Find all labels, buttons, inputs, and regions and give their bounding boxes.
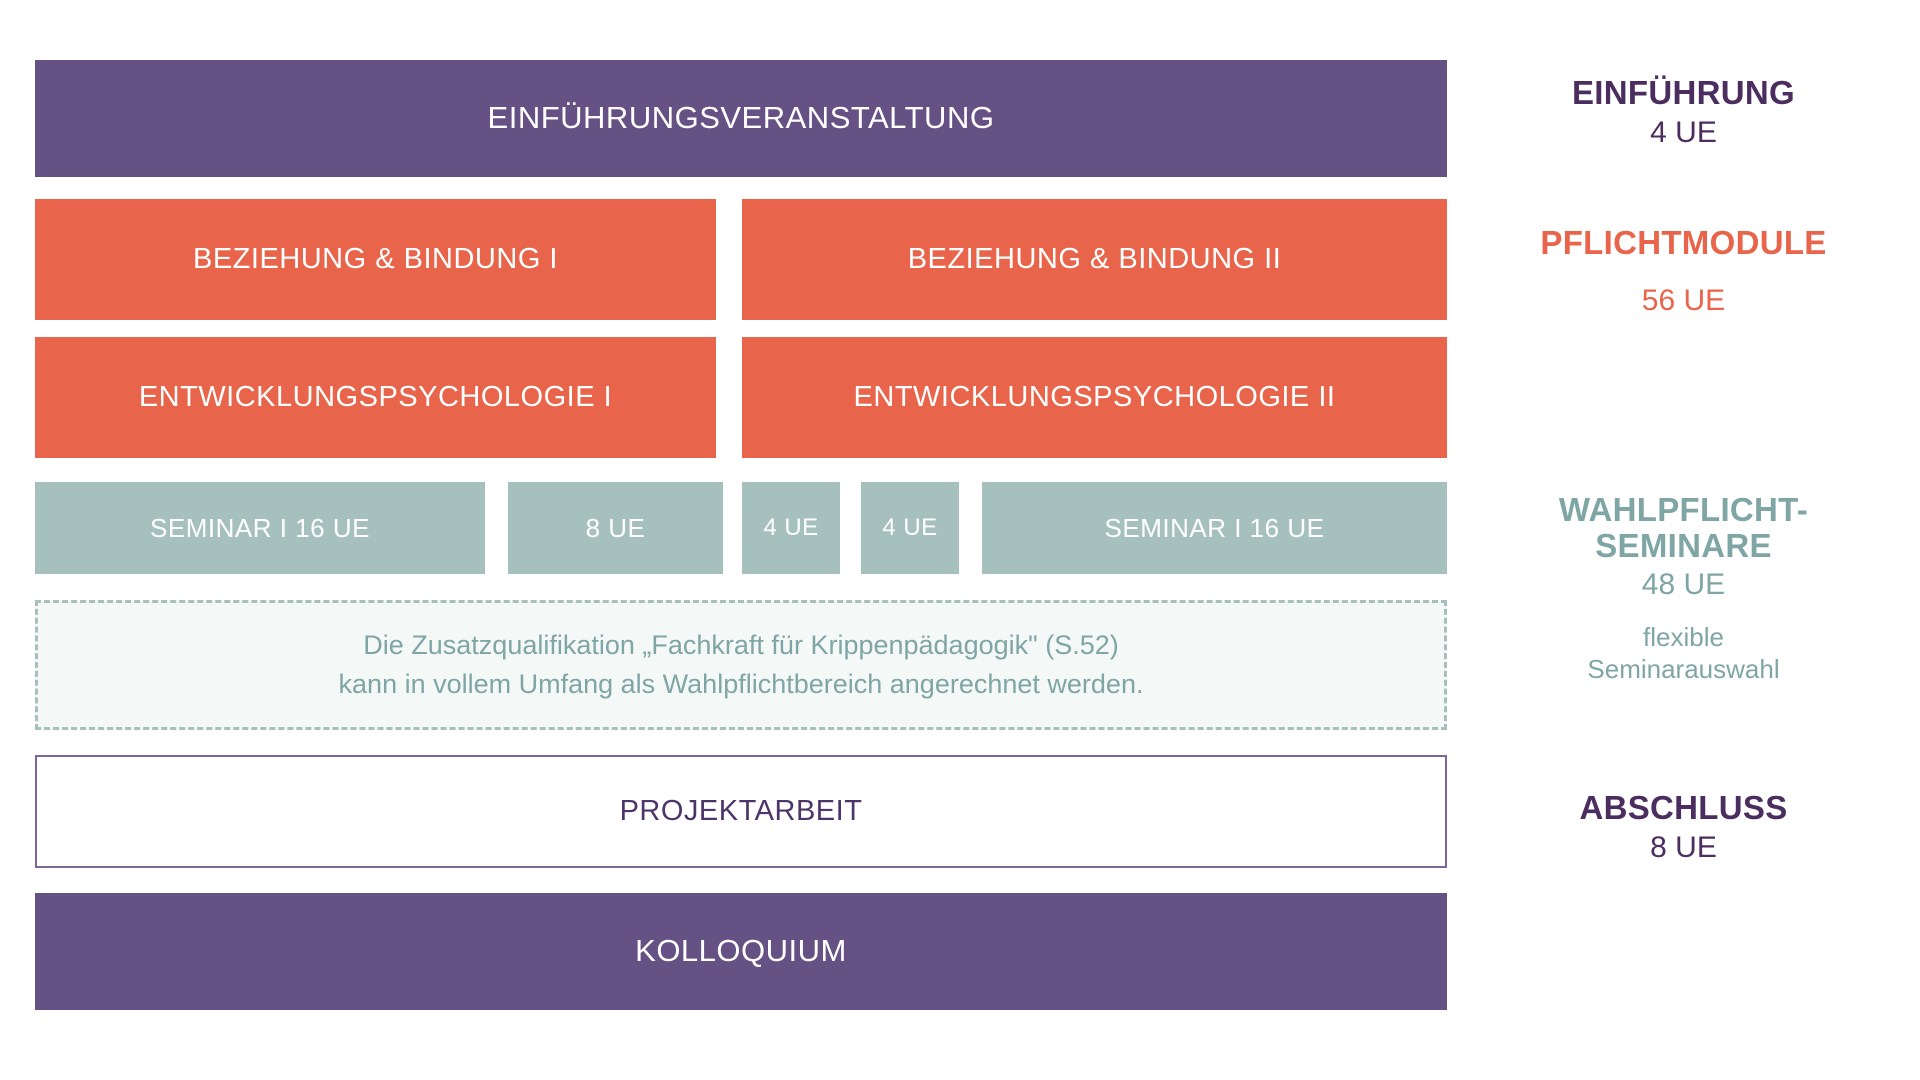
- note-line-1: Die Zusatzqualifikation „Fachkraft für K…: [363, 626, 1118, 665]
- module-entwicklungspsychologie-2[interactable]: ENTWICKLUNGSPSYCHOLOGIE II: [742, 337, 1447, 458]
- seminar-block-1[interactable]: SEMINAR I 16 UE: [35, 482, 485, 574]
- legend-abschluss-subtitle: 8 UE: [1447, 830, 1920, 866]
- module-entwicklungspsychologie-1[interactable]: ENTWICKLUNGSPSYCHOLOGIE I: [35, 337, 716, 458]
- legend-wahlpflicht-title-line2: SEMINARE: [1447, 528, 1920, 564]
- module-entwicklungspsychologie-2-label: ENTWICKLUNGSPSYCHOLOGIE II: [854, 382, 1336, 414]
- legend-abschluss-title: ABSCHLUSS: [1447, 790, 1920, 826]
- seminar-block-2[interactable]: 8 UE: [508, 482, 723, 574]
- colloquium-bar[interactable]: KOLLOQUIUM: [35, 893, 1447, 1010]
- seminar-block-5[interactable]: SEMINAR I 16 UE: [982, 482, 1447, 574]
- module-beziehung-bindung-1[interactable]: BEZIEHUNG & BINDUNG I: [35, 199, 716, 320]
- legend-wahlpflicht-note-line1: flexible: [1447, 621, 1920, 654]
- legend-group-pflichtmodule: PFLICHTMODULE 56 UE: [1447, 225, 1920, 319]
- legend-pflichtmodule-title: PFLICHTMODULE: [1447, 225, 1920, 261]
- legend-group-einfuehrung: EINFÜHRUNG 4 UE: [1447, 75, 1920, 151]
- legend-group-abschluss: ABSCHLUSS 8 UE: [1447, 790, 1920, 866]
- project-work-bar[interactable]: PROJEKTARBEIT: [35, 755, 1447, 868]
- legend-wahlpflicht-subtitle: 48 UE: [1447, 567, 1920, 603]
- diagram-canvas: EINFÜHRUNGSVERANSTALTUNG BEZIEHUNG & BIN…: [0, 0, 1920, 1080]
- module-beziehung-bindung-2-label: BEZIEHUNG & BINDUNG II: [908, 244, 1282, 276]
- legend-wahlpflicht-title-line1: WAHLPFLICHT-: [1447, 492, 1920, 528]
- module-entwicklungspsychologie-1-label: ENTWICKLUNGSPSYCHOLOGIE I: [139, 382, 612, 414]
- legend-column: EINFÜHRUNG 4 UE PFLICHTMODULE 56 UE WAHL…: [1447, 0, 1920, 1080]
- additional-qualification-note: Die Zusatzqualifikation „Fachkraft für K…: [35, 600, 1447, 730]
- module-beziehung-bindung-2[interactable]: BEZIEHUNG & BINDUNG II: [742, 199, 1447, 320]
- seminar-block-2-label: 8 UE: [586, 514, 646, 543]
- legend-einfuehrung-subtitle: 4 UE: [1447, 115, 1920, 151]
- legend-einfuehrung-title: EINFÜHRUNG: [1447, 75, 1920, 111]
- legend-group-wahlpflichtseminare: WAHLPFLICHT- SEMINARE 48 UE flexible Sem…: [1447, 492, 1920, 686]
- intro-event-bar[interactable]: EINFÜHRUNGSVERANSTALTUNG: [35, 60, 1447, 177]
- legend-wahlpflicht-note-line2: Seminarauswahl: [1447, 653, 1920, 686]
- colloquium-label: KOLLOQUIUM: [635, 934, 847, 968]
- project-work-label: PROJEKTARBEIT: [620, 796, 863, 828]
- seminar-block-5-label: SEMINAR I 16 UE: [1105, 514, 1325, 543]
- seminar-block-3-label: 4 UE: [763, 515, 818, 541]
- seminar-block-3[interactable]: 4 UE: [742, 482, 840, 574]
- seminar-block-4-label: 4 UE: [882, 515, 937, 541]
- curriculum-diagram: EINFÜHRUNGSVERANSTALTUNG BEZIEHUNG & BIN…: [35, 0, 1447, 1080]
- intro-event-label: EINFÜHRUNGSVERANSTALTUNG: [488, 101, 995, 135]
- seminar-block-4[interactable]: 4 UE: [861, 482, 959, 574]
- module-beziehung-bindung-1-label: BEZIEHUNG & BINDUNG I: [193, 244, 558, 276]
- legend-pflichtmodule-subtitle: 56 UE: [1447, 283, 1920, 319]
- seminar-block-1-label: SEMINAR I 16 UE: [150, 514, 370, 543]
- note-line-2: kann in vollem Umfang als Wahlpflichtber…: [339, 665, 1144, 704]
